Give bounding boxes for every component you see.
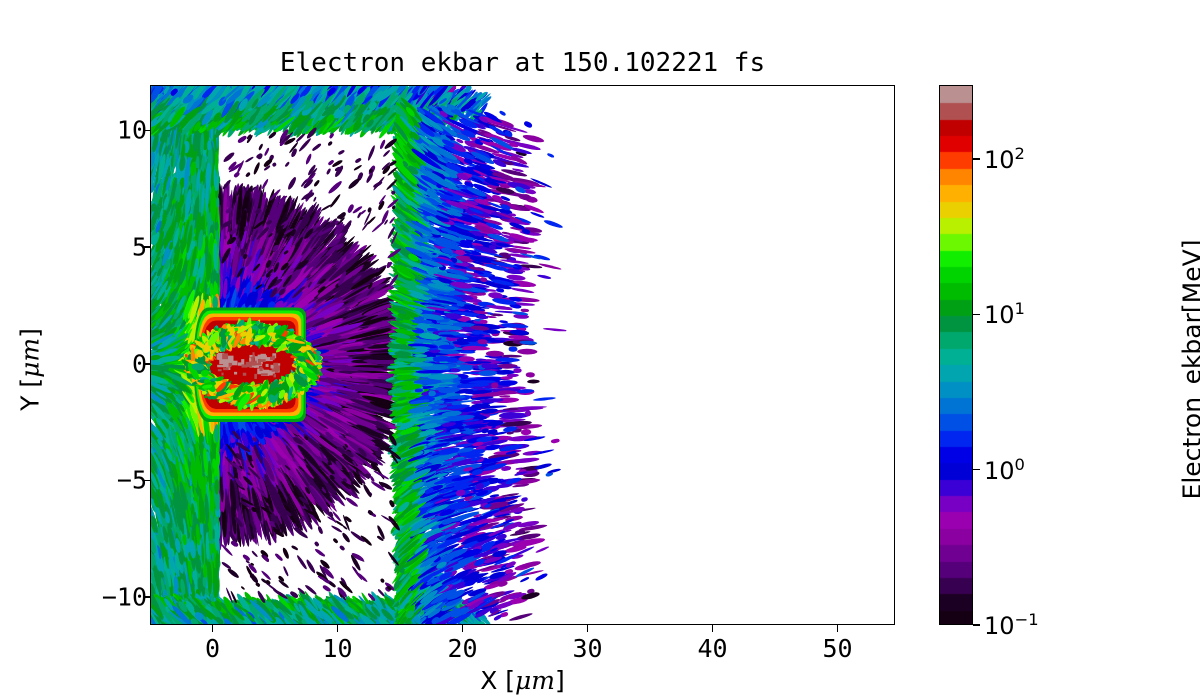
- colorbar-tick-label: 102: [984, 144, 1025, 174]
- x-tick-mark: [587, 625, 589, 632]
- y-axis-label-units: μm: [16, 338, 45, 378]
- y-tick-label: −5: [117, 466, 147, 495]
- main-plot-axes[interactable]: [150, 85, 895, 625]
- heatmap-field: [151, 86, 895, 625]
- page-title: Electron ekbar at 150.102221 fs: [150, 48, 895, 78]
- x-tick-label: 30: [572, 634, 602, 663]
- figure-canvas: Electron ekbar at 150.102221 fs 01020304…: [0, 0, 1200, 700]
- colorbar-tick-mark: [973, 314, 980, 316]
- x-tick-mark: [337, 625, 339, 632]
- y-tick-label: 10: [117, 116, 147, 145]
- x-tick-label: 50: [822, 634, 852, 663]
- x-tick-mark: [462, 625, 464, 632]
- colorbar-label: Electron_ekbar[MeV]: [1178, 100, 1200, 640]
- x-axis-label-units: μm: [515, 666, 555, 695]
- colorbar[interactable]: [939, 85, 973, 625]
- x-tick-mark: [837, 625, 839, 632]
- colorbar-tick-mark: [973, 469, 980, 471]
- x-tick-label: 20: [447, 634, 477, 663]
- y-axis-label-suffix: ]: [16, 328, 45, 338]
- x-axis-label-suffix: ]: [555, 666, 565, 695]
- y-tick-label: −10: [102, 583, 147, 612]
- colorbar-tick-label: 101: [984, 299, 1025, 329]
- x-tick-label: 10: [322, 634, 352, 663]
- colorbar-gradient: [940, 86, 973, 625]
- x-axis-label-prefix: X [: [480, 666, 515, 695]
- y-tick-label: 0: [132, 349, 147, 378]
- x-tick-mark: [212, 625, 214, 632]
- colorbar-tick-mark: [973, 158, 980, 160]
- y-axis-label: Y [μm]: [16, 200, 45, 540]
- x-axis-label: X [μm]: [150, 666, 895, 695]
- x-tick-label: 0: [205, 634, 220, 663]
- colorbar-tick-label: 10−1: [984, 610, 1039, 640]
- colorbar-tick-mark: [973, 624, 980, 626]
- x-tick-label: 40: [697, 634, 727, 663]
- colorbar-tick-label: 100: [984, 455, 1025, 485]
- y-tick-label: 5: [132, 233, 147, 262]
- x-tick-mark: [712, 625, 714, 632]
- y-axis-label-prefix: Y [: [16, 378, 45, 411]
